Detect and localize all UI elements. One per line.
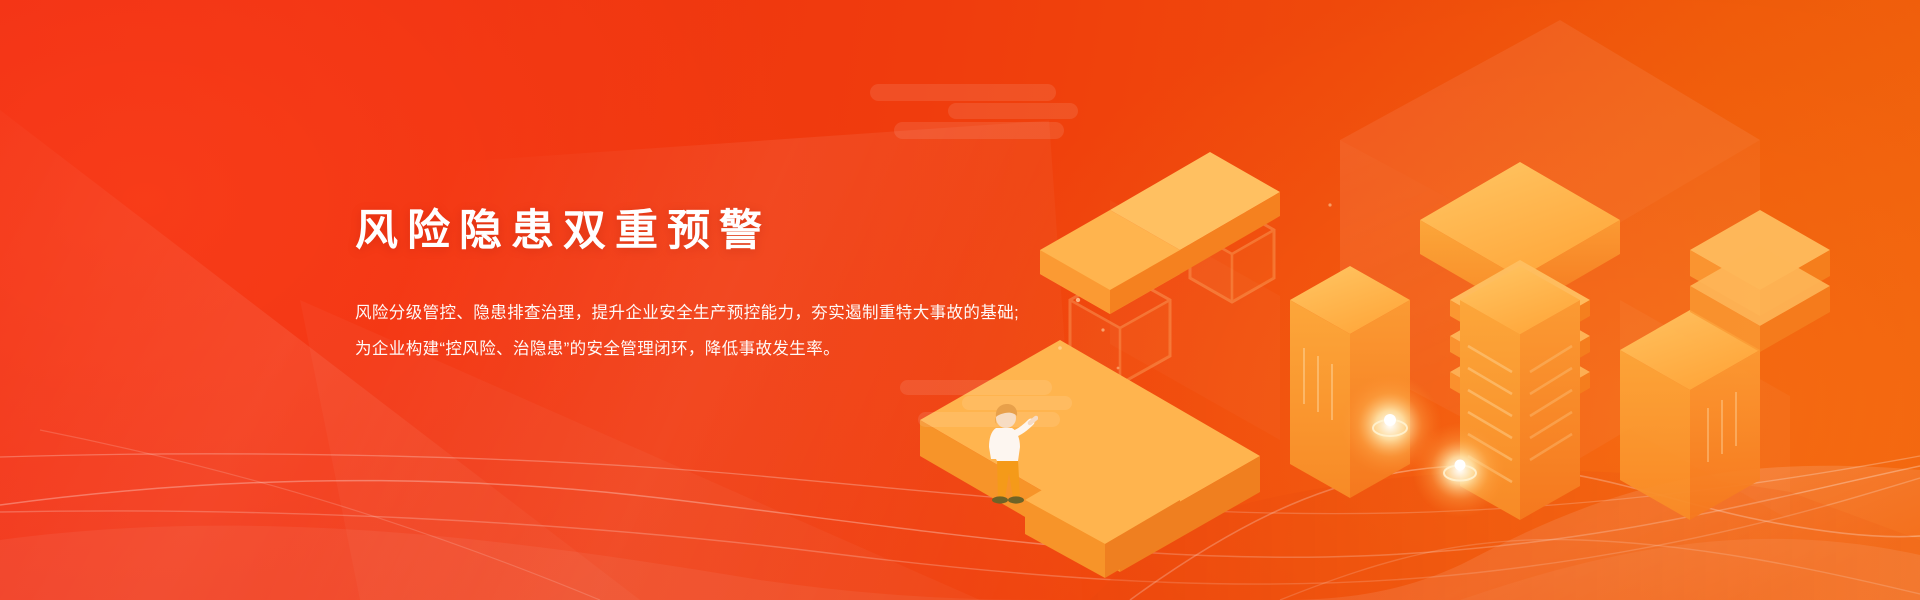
page-title: 风险隐患双重预警	[355, 208, 1115, 255]
wave-line-1	[0, 466, 1920, 557]
hero-text-block: 风险隐患双重预警 风险分级管控、隐患排查治理，提升企业安全生产预控能力，夯实遏制…	[355, 208, 1115, 367]
tower-center	[1420, 162, 1620, 520]
hero-subtitle-group: 风险分级管控、隐患排查治理，提升企业安全生产预控能力，夯实遏制重特大事故的基础;…	[355, 295, 1115, 367]
cloud-shape-top	[870, 84, 1080, 140]
ghost-volumes	[1110, 20, 1790, 520]
wave-line-4	[40, 430, 600, 600]
tower-far-right	[1690, 210, 1830, 352]
tower-left	[1290, 266, 1410, 498]
wave-band-right	[1280, 466, 1920, 600]
hero-subtitle-line-2: 为企业构建“控风险、治隐患”的安全管理闭环，降低事故发生率。	[355, 331, 1115, 367]
person-figure	[980, 401, 1038, 513]
tilted-box	[1025, 456, 1180, 578]
ground-shadow	[1090, 471, 1920, 600]
wave-line-6	[1280, 540, 1920, 600]
wave-line-5	[1130, 466, 1920, 600]
hero-banner: 风险隐患双重预警 风险分级管控、隐患排查治理，提升企业安全生产预控能力，夯实遏制…	[0, 0, 1920, 600]
glow-light-icon-2	[1412, 422, 1508, 518]
wave-band-bottom-left	[0, 526, 1060, 600]
hex-cube-icon-1	[1190, 206, 1274, 302]
wave-line-2	[0, 478, 1920, 584]
cloud-shape-bottom	[900, 380, 1080, 428]
glow-light-icon-1	[1338, 373, 1442, 477]
wave-band-right-2	[1460, 539, 1920, 600]
wave-line-3	[0, 454, 1920, 514]
tower-right	[1620, 310, 1760, 520]
base-slab-left	[920, 340, 1260, 572]
hero-subtitle-line-1: 风险分级管控、隐患排查治理，提升企业安全生产预控能力，夯实遏制重特大事故的基础;	[355, 295, 1115, 331]
